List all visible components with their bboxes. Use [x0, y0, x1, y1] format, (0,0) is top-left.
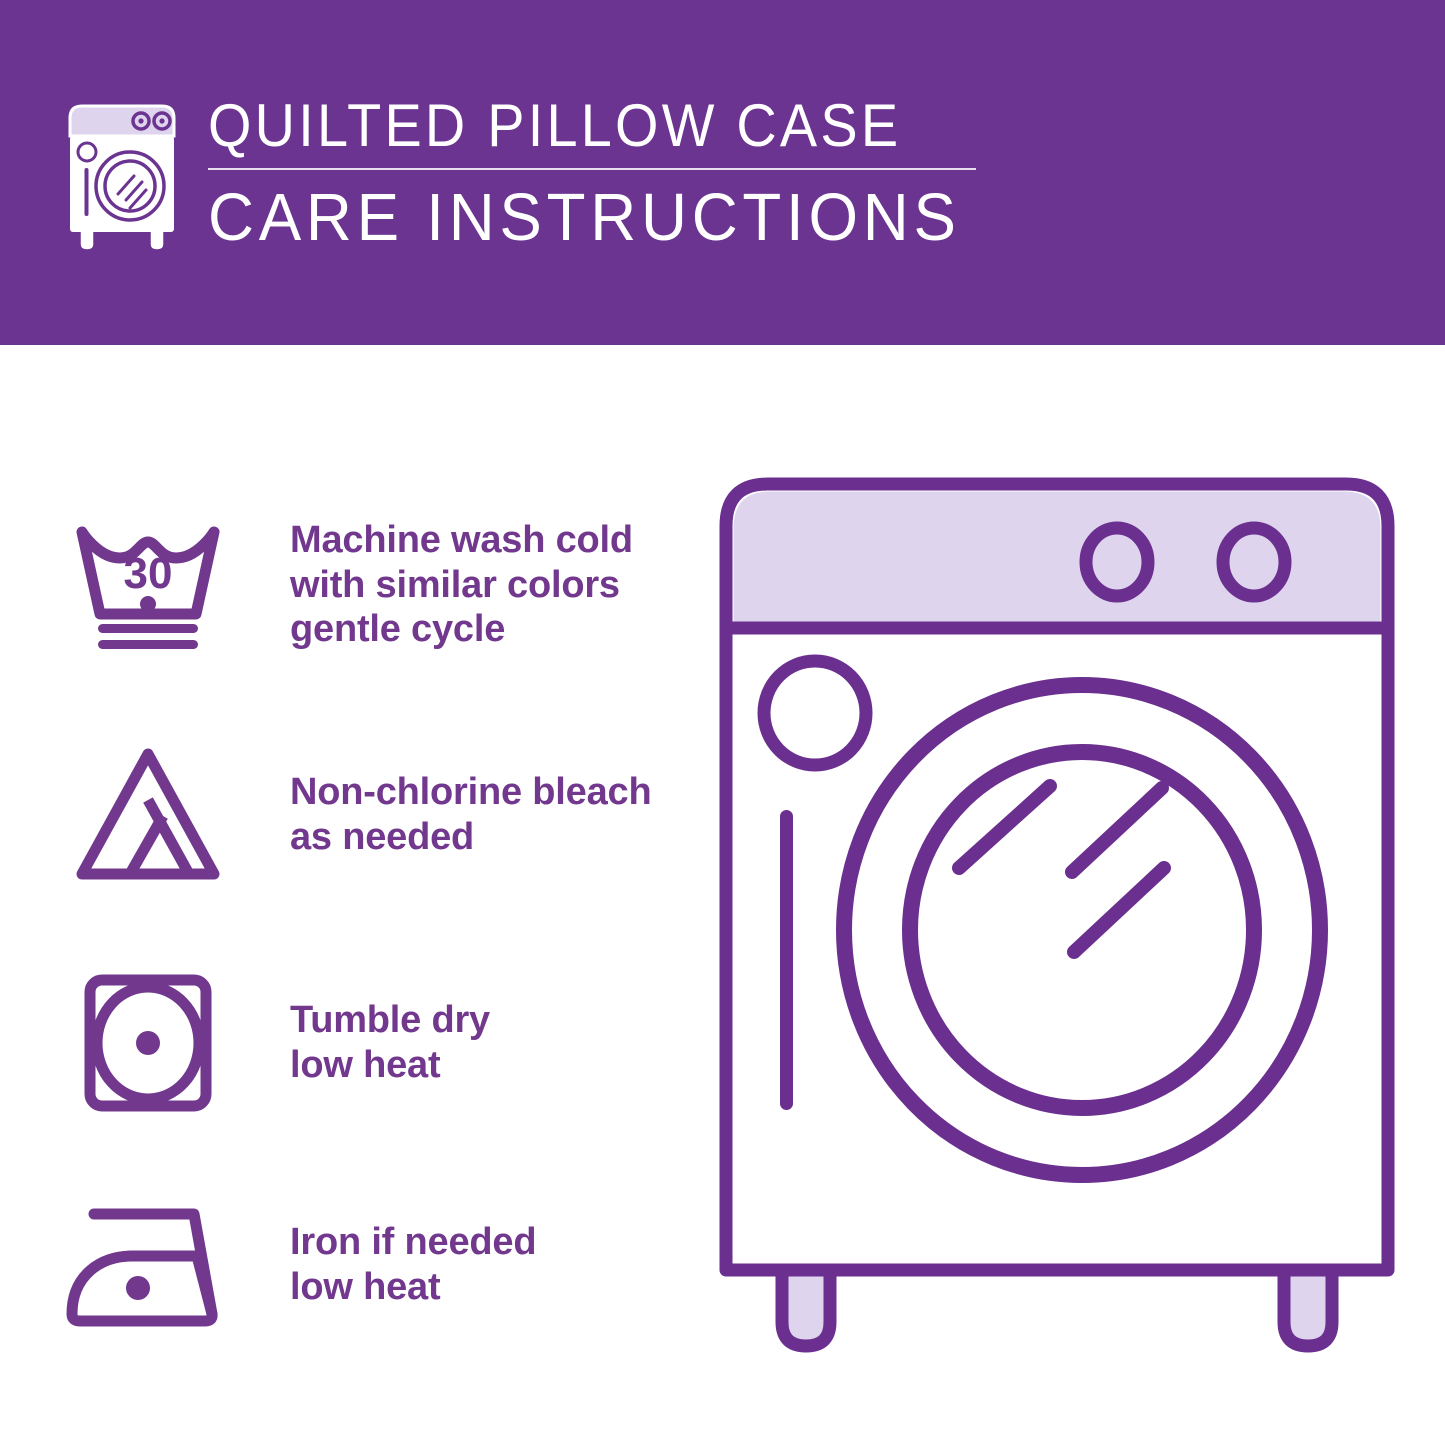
care-row-tumble-dry: Tumble dry low heat: [0, 943, 700, 1143]
care-row-iron: Iron if needed low heat: [0, 1165, 700, 1365]
title-divider: [208, 168, 976, 170]
header-title-block: QUILTED PILLOW CASE CARE INSTRUCTIONS: [208, 96, 988, 251]
page-header: QUILTED PILLOW CASE CARE INSTRUCTIONS: [0, 0, 1445, 345]
detergent-drawer-circle: [764, 661, 866, 765]
care-row-bleach: Non-chlorine bleach as needed: [0, 715, 700, 915]
washing-machine-illustration: [712, 470, 1402, 1370]
page-title: CARE INSTRUCTIONS: [208, 184, 949, 251]
leg-right: [1284, 1270, 1332, 1346]
knob-left: [1086, 528, 1148, 596]
care-row-machine-wash: 30 Machine wash cold with similar colors…: [0, 485, 700, 685]
care-label-tumble-dry: Tumble dry low heat: [290, 998, 490, 1088]
drum-inner-circle: [910, 752, 1254, 1108]
leg-left: [782, 1270, 830, 1346]
wash-temp-value: 30: [123, 549, 172, 598]
non-chlorine-bleach-triangle-icon: [60, 733, 235, 898]
care-label-iron: Iron if needed low heat: [290, 1220, 536, 1310]
iron-low-heat-icon: [60, 1183, 235, 1348]
care-label-bleach: Non-chlorine bleach as needed: [290, 770, 651, 860]
vertical-bar: [780, 810, 793, 1110]
knob-right: [1223, 528, 1285, 596]
care-label-machine-wash: Machine wash cold with similar colors ge…: [290, 518, 633, 652]
wash-tub-30-icon: 30: [60, 503, 235, 668]
care-instruction-list: 30 Machine wash cold with similar colors…: [0, 345, 700, 1445]
washing-machine-icon: [62, 100, 182, 250]
product-title: QUILTED PILLOW CASE: [208, 96, 933, 156]
tumble-dry-low-icon: [60, 961, 235, 1126]
